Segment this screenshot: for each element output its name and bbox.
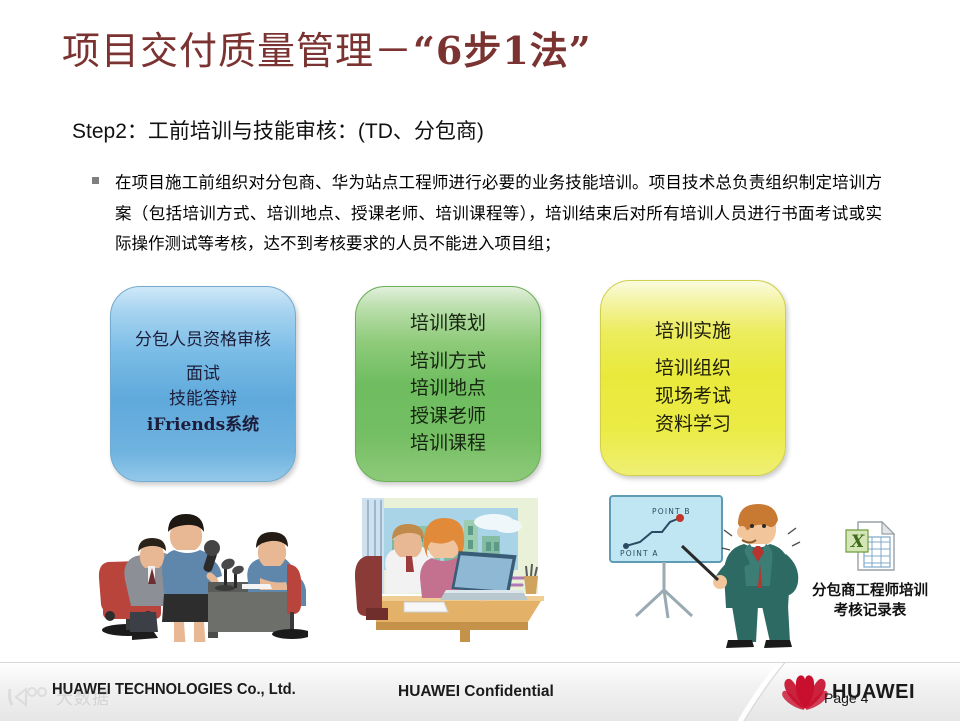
board-point-a-label: POINT A — [620, 549, 659, 558]
process-box-heading: 分包人员资格审核 — [135, 330, 271, 351]
process-box-line: 培训地点 — [410, 375, 486, 403]
footer-confidentiality-label: HUAWEI Confidential — [398, 683, 554, 701]
site-watermark: 大数据 — [6, 684, 110, 709]
process-box-emphasis: iFriends系统 — [147, 413, 259, 439]
excel-caption-line2: 考核记录表 — [790, 601, 950, 621]
process-box-line: 面试 — [186, 362, 220, 388]
process-box-heading: 培训策划 — [410, 310, 486, 338]
slide-subtitle: Step2：工前培训与技能审核：(TD、分包商) — [72, 115, 484, 145]
svg-text:X: X — [850, 532, 865, 552]
process-box-subcontractor-qualification[interactable]: 分包人员资格审核 面试 技能答辩 iFriends系统 — [110, 286, 296, 482]
process-box-training-planning[interactable]: 培训策划 培训方式 培训地点 授课老师 培训课程 — [355, 286, 541, 482]
process-box-line: 现场考试 — [655, 383, 731, 411]
page-number: Page 4 — [824, 690, 868, 706]
page-title-quoted: “6步1法” — [413, 28, 592, 73]
huawei-flower-icon — [782, 673, 828, 711]
body-paragraph: 在项目施工前组织对分包商、华为站点工程师进行必要的业务技能培训。项目技术总负责组… — [115, 168, 882, 260]
excel-caption-line1: 分包商工程师培训 — [790, 581, 950, 601]
watermark-text: 大数据 — [56, 684, 110, 709]
process-box-training-execution[interactable]: 培训实施 培训组织 现场考试 资料学习 — [600, 280, 786, 476]
board-point-b-label: POINT B — [652, 507, 691, 516]
excel-file-icon: X — [842, 518, 898, 572]
process-box-line: 授课老师 — [410, 403, 486, 431]
process-box-line: 培训方式 — [410, 348, 486, 376]
process-box-line: 培训组织 — [655, 355, 731, 383]
watermark-logo-icon — [6, 685, 52, 709]
illustration-interview — [82, 492, 308, 647]
process-box-line: 技能答辩 — [169, 387, 237, 413]
body-paragraph-block: 在项目施工前组织对分包商、华为站点工程师进行必要的业务技能培训。项目技术总负责组… — [92, 168, 882, 260]
illustration-presentation: POINT A POINT B — [592, 488, 804, 653]
illustration-office-training — [332, 492, 558, 647]
page-title: 项目交付质量管理－“6步1法” — [62, 30, 592, 73]
process-box-heading: 培训实施 — [655, 318, 731, 346]
page-title-main: 项目交付质量管理－ — [62, 29, 413, 73]
bullet-square-icon — [92, 177, 99, 184]
process-box-line: 培训课程 — [410, 430, 486, 458]
slide-footer: HUAWEI TECHNOLOGIES Co., Ltd. HUAWEI Con… — [0, 662, 960, 721]
process-box-line: 资料学习 — [655, 411, 731, 439]
process-box-row: 分包人员资格审核 面试 技能答辩 iFriends系统 培训策划 培训方式 培训… — [0, 276, 960, 492]
excel-callout-caption: 分包商工程师培训 考核记录表 — [790, 581, 950, 622]
excel-record-callout[interactable]: X 分包商工程师培训 考核记录表 — [790, 518, 950, 622]
slide-canvas: 项目交付质量管理－“6步1法” Step2：工前培训与技能审核：(TD、分包商)… — [0, 0, 960, 720]
